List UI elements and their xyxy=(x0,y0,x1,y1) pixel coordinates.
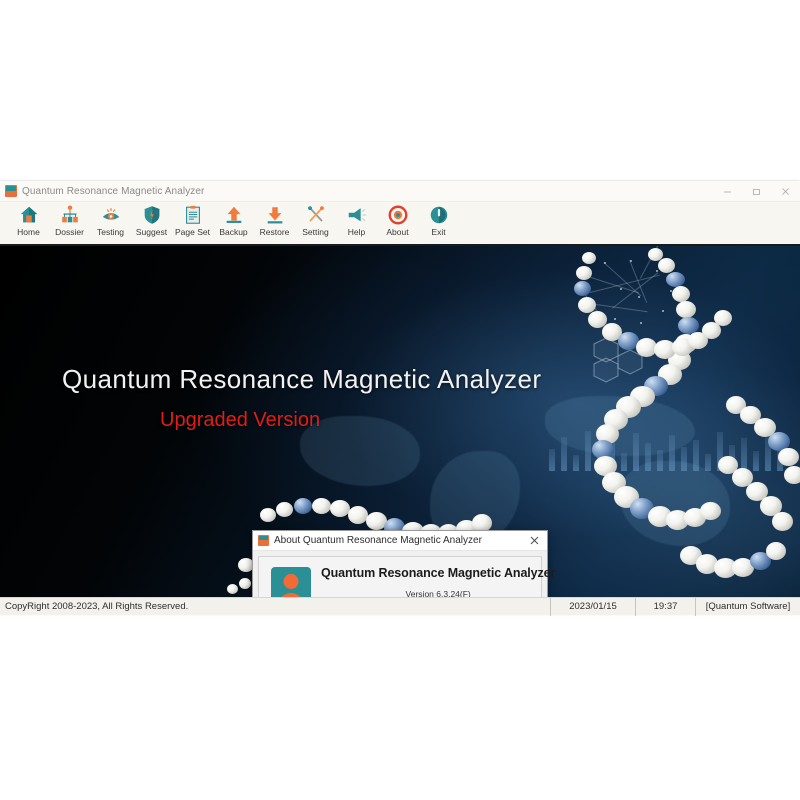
home-icon xyxy=(18,204,40,226)
splash-title: Quantum Resonance Magnetic Analyzer xyxy=(62,364,541,395)
splash-text-block: Quantum Resonance Magnetic Analyzer Upgr… xyxy=(62,364,541,432)
toolbar-label: About xyxy=(386,227,408,237)
toolbar-label: Restore xyxy=(260,227,290,237)
close-icon[interactable] xyxy=(771,181,800,201)
window-title: Quantum Resonance Magnetic Analyzer xyxy=(22,186,205,197)
worldmap-shape xyxy=(620,461,730,546)
status-date: 2023/01/15 xyxy=(550,598,635,616)
app-avatar-icon xyxy=(258,535,269,546)
about-dialog: About Quantum Resonance Magnetic Analyze… xyxy=(252,530,548,597)
status-copyright: CopyRight 2008-2023, All Rights Reserved… xyxy=(0,601,550,612)
page-set-clipboard-icon xyxy=(182,204,204,226)
toolbar-label: Setting xyxy=(302,227,328,237)
close-icon[interactable] xyxy=(521,531,547,550)
toolbar-label: Suggest xyxy=(136,227,167,237)
minimize-icon[interactable] xyxy=(713,181,742,201)
hexagon-mesh-graphic xyxy=(580,336,680,386)
toolbar-label: Exit xyxy=(431,227,445,237)
toolbar-button-backup[interactable]: Backup xyxy=(213,202,254,246)
maximize-icon[interactable] xyxy=(742,181,771,201)
toolbar-button-suggest[interactable]: Suggest xyxy=(131,202,172,246)
user-avatar-icon xyxy=(271,567,311,597)
status-time: 19:37 xyxy=(635,598,695,616)
network-sphere-graphic xyxy=(570,248,700,338)
backup-upload-icon xyxy=(223,204,245,226)
application-window: Quantum Resonance Magnetic Analyzer xyxy=(0,181,800,614)
dialog-body: Quantum Resonance Magnetic Analyzer Vers… xyxy=(258,556,542,597)
toolbar-button-restore[interactable]: Restore xyxy=(254,202,295,246)
toolbar-label: Help xyxy=(348,227,365,237)
suggest-shield-icon xyxy=(141,204,163,226)
window-controls xyxy=(713,181,800,201)
toolbar-button-home[interactable]: Home xyxy=(8,202,49,246)
about-target-icon xyxy=(387,204,409,226)
app-avatar-icon xyxy=(5,185,17,197)
toolbar-label: Testing xyxy=(97,227,124,237)
setting-tools-icon xyxy=(305,204,327,226)
toolbar-button-testing[interactable]: Testing xyxy=(90,202,131,246)
help-megaphone-icon xyxy=(346,204,368,226)
dialog-title: About Quantum Resonance Magnetic Analyze… xyxy=(274,535,482,546)
toolbar-label: Dossier xyxy=(55,227,84,237)
testing-eye-icon xyxy=(100,204,122,226)
dialog-app-name: Quantum Resonance Magnetic Analyzer xyxy=(321,566,555,580)
main-toolbar: Home Dossier Testing xyxy=(0,202,800,246)
dossier-icon xyxy=(59,204,81,226)
toolbar-button-exit[interactable]: Exit xyxy=(418,202,459,246)
worldmap-shape xyxy=(545,396,695,456)
restore-download-icon xyxy=(264,204,286,226)
splash-background: Quantum Resonance Magnetic Analyzer Upgr… xyxy=(0,246,800,597)
toolbar-button-help[interactable]: Help xyxy=(336,202,377,246)
dialog-titlebar: About Quantum Resonance Magnetic Analyze… xyxy=(253,531,547,551)
window-titlebar: Quantum Resonance Magnetic Analyzer xyxy=(0,181,800,202)
toolbar-label: Backup xyxy=(219,227,247,237)
toolbar-button-setting[interactable]: Setting xyxy=(295,202,336,246)
toolbar-label: Page Set xyxy=(175,227,210,237)
status-bar: CopyRight 2008-2023, All Rights Reserved… xyxy=(0,597,800,615)
toolbar-button-dossier[interactable]: Dossier xyxy=(49,202,90,246)
status-brand: [Quantum Software] xyxy=(695,598,800,616)
dialog-version: Version 6.3.24(F) xyxy=(321,589,555,597)
toolbar-button-page-set[interactable]: Page Set xyxy=(172,202,213,246)
splash-subtitle: Upgraded Version xyxy=(160,409,541,432)
exit-power-icon xyxy=(428,204,450,226)
toolbar-label: Home xyxy=(17,227,40,237)
toolbar-button-about[interactable]: About xyxy=(377,202,418,246)
dialog-header-row: Quantum Resonance Magnetic Analyzer Vers… xyxy=(269,563,531,597)
dialog-header-text: Quantum Resonance Magnetic Analyzer Vers… xyxy=(321,563,555,597)
